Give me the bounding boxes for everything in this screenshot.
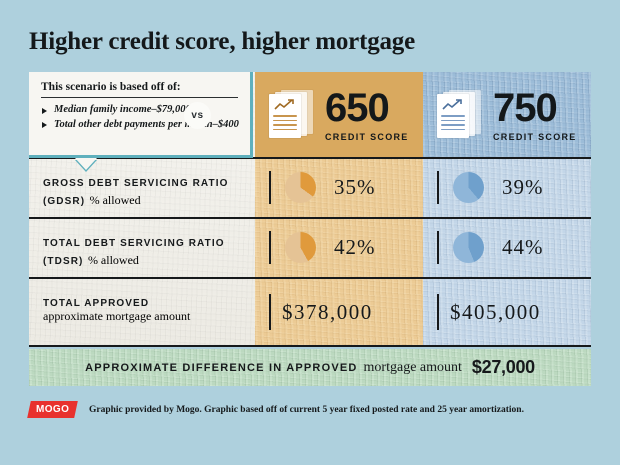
difference-band: APPROXIMATE DIFFERENCE IN APPROVED mortg… [29,349,591,386]
score-caption-650: CREDIT SCORE [325,132,409,142]
value-750-gdsr: 39% [502,175,544,200]
pie-chart-750-gdsr [453,172,484,203]
scenario-bullet-list: Median family income–$79,000 Total other… [29,104,250,131]
mogo-logo[interactable]: MOGO [27,401,78,418]
list-item: Total other debt payments per month–$400 [41,119,240,132]
footer-note: Graphic provided by Mogo. Graphic based … [89,405,524,415]
pie-chart-650-tdsr [285,232,316,263]
mogo-logo-text: MOGO [36,404,69,415]
row-label-serif: approximate mortgage amount [43,309,248,324]
value-650-gdsr: 35% [334,175,376,200]
value-750-total: $405,000 [450,300,541,325]
comparison-table: 650 CREDIT SCORE 750 [29,72,591,347]
column-tick [269,171,271,204]
row-label-serif: % allowed [90,193,141,207]
score-caption-750: CREDIT SCORE [493,132,577,142]
column-tick [437,171,439,204]
column-tick [269,294,271,330]
score-value-750: 750 [493,88,577,128]
documents-chart-icon [437,90,483,140]
row-label-serif: % allowed [88,253,139,267]
pie-chart-750-tdsr [453,232,484,263]
scenario-heading: This scenario is based off of: [41,81,250,93]
difference-amount: $27,000 [472,357,535,378]
value-650-tdsr: 42% [334,235,376,260]
column-tick [437,294,439,330]
table-row: TOTAL APPROVED approximate mortgage amou… [29,278,591,345]
column-tick [437,231,439,264]
difference-caps: APPROXIMATE DIFFERENCE IN APPROVED [85,362,357,374]
scenario-divider [41,97,238,98]
row-label-gdsr: GROSS DEBT SERVICING RATIO (GDSR) % allo… [43,173,248,209]
score-block-750: 750 CREDIT SCORE [437,72,577,158]
scenario-card: This scenario is based off of: Median fa… [29,72,253,158]
difference-serif: mortgage amount [364,360,462,376]
row-label-tdsr: TOTAL DEBT SERVICING RATIO (TDSR) % allo… [43,233,248,269]
footer: MOGO Graphic provided by Mogo. Graphic b… [29,401,524,418]
row-divider [29,345,591,347]
vs-badge: vs [184,102,211,129]
score-value-650: 650 [325,88,409,128]
documents-chart-icon [269,90,315,140]
page-title: Higher credit score, higher mortgage [29,28,415,56]
table-row: GROSS DEBT SERVICING RATIO (GDSR) % allo… [29,158,591,217]
column-tick [269,231,271,264]
scenario-pointer [75,158,97,170]
row-label-total: TOTAL APPROVED approximate mortgage amou… [43,298,248,324]
score-block-650: 650 CREDIT SCORE [269,72,409,158]
pie-chart-650-gdsr [285,172,316,203]
value-650-total: $378,000 [282,300,373,325]
infographic-root: Higher credit score, higher mortgage [0,0,620,465]
table-row: TOTAL DEBT SERVICING RATIO (TDSR) % allo… [29,218,591,277]
value-750-tdsr: 44% [502,235,544,260]
row-label-caps: TOTAL APPROVED [43,298,248,309]
